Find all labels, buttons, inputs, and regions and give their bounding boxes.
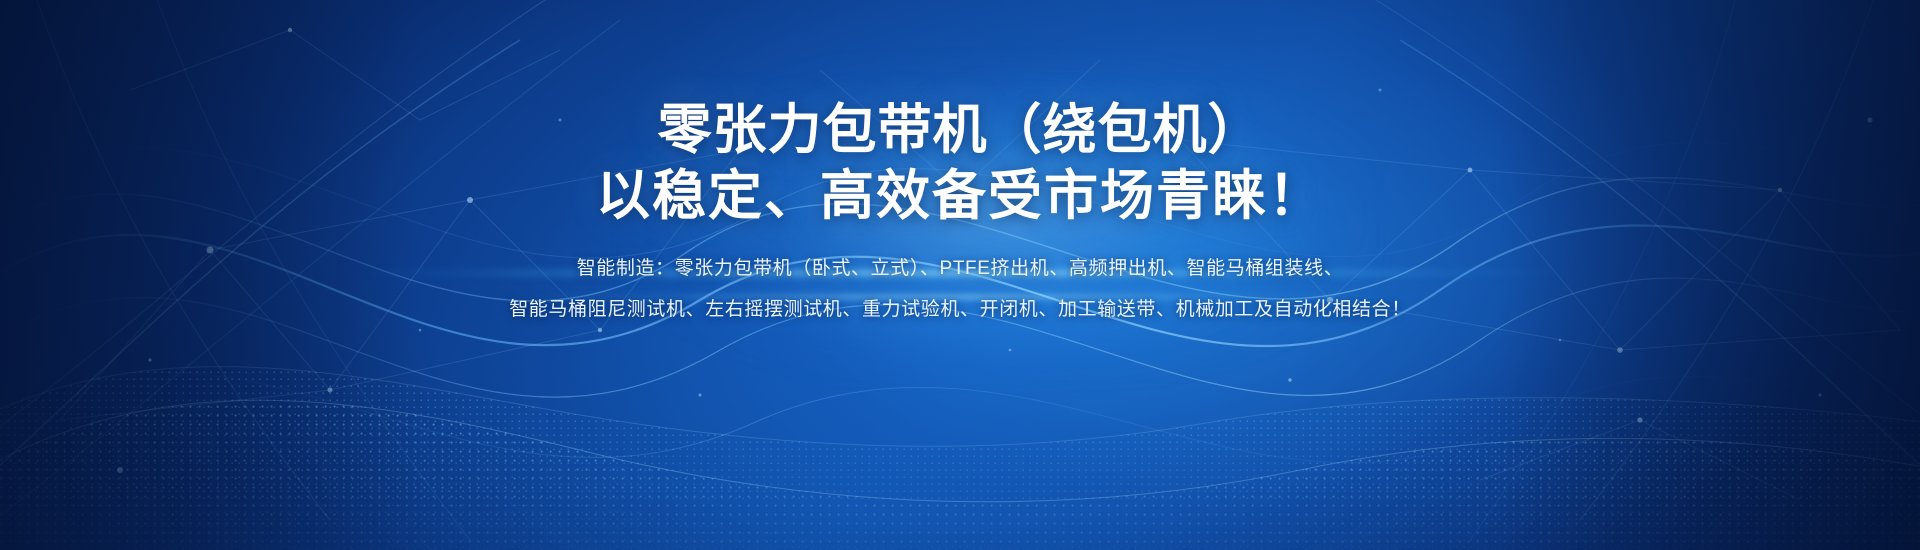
banner-subtitle-line-1: 智能制造：零张力包带机（卧式、立式）、PTFE挤出机、高频押出机、智能马桶组装线… (0, 227, 1920, 280)
banner-content: 零张力包带机（绕包机） 以稳定、高效备受市场青睐！ 智能制造：零张力包带机（卧式… (0, 0, 1920, 321)
banner-subtitle-line-2: 智能马桶阻尼测试机、左右摇摆测试机、重力试验机、开闭机、加工输送带、机械加工及自… (0, 280, 1920, 321)
banner-title-line-2: 以稳定、高效备受市场青睐！ (0, 160, 1920, 226)
hero-banner: 零张力包带机（绕包机） 以稳定、高效备受市场青睐！ 智能制造：零张力包带机（卧式… (0, 0, 1920, 550)
banner-title-line-1: 零张力包带机（绕包机） (0, 0, 1920, 160)
